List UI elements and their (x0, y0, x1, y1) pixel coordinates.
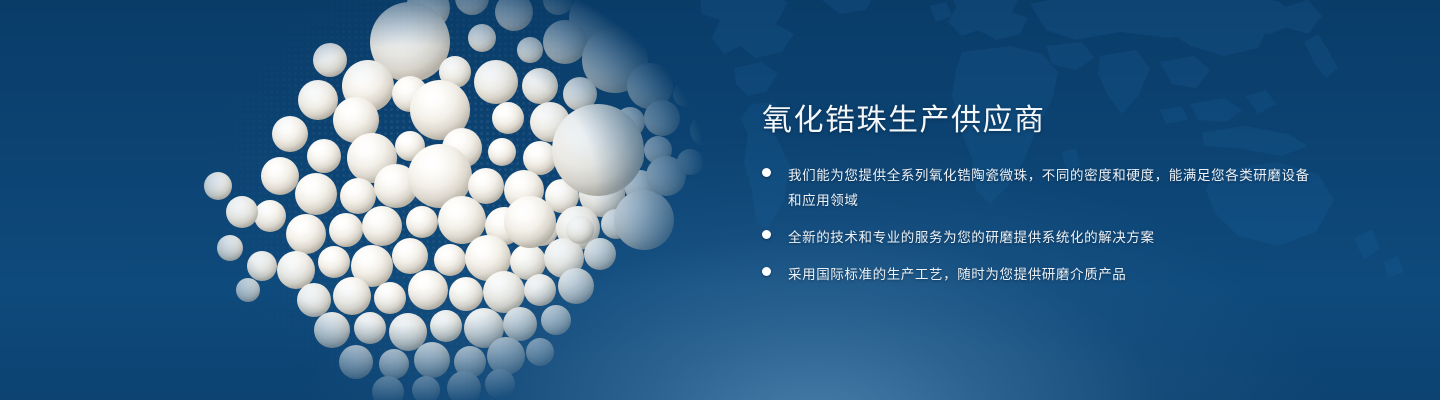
bullet-circle-icon (762, 230, 771, 239)
list-item-label: 采用国际标准的生产工艺，随时为您提供研磨介质产品 (788, 262, 1126, 287)
zirconia-beads-photo (110, 0, 730, 400)
list-item: 我们能为您提供全系列氧化锆陶瓷微珠，不同的密度和硬度，能满足您各类研磨设备和应用… (762, 163, 1322, 213)
hero-banner: 氧化锆珠生产供应商 我们能为您提供全系列氧化锆陶瓷微珠，不同的密度和硬度，能满足… (0, 0, 1440, 400)
page-title: 氧化锆珠生产供应商 (762, 104, 1322, 138)
bullet-circle-icon (762, 168, 771, 177)
bullet-circle-icon (762, 267, 771, 276)
list-item: 全新的技术和专业的服务为您的研磨提供系统化的解决方案 (762, 225, 1322, 250)
feature-list: 我们能为您提供全系列氧化锆陶瓷微珠，不同的密度和硬度，能满足您各类研磨设备和应用… (762, 163, 1322, 287)
list-item-label: 全新的技术和专业的服务为您的研磨提供系统化的解决方案 (788, 225, 1155, 250)
banner-copy: 氧化锆珠生产供应商 我们能为您提供全系列氧化锆陶瓷微珠，不同的密度和硬度，能满足… (762, 104, 1322, 287)
list-item-label: 我们能为您提供全系列氧化锆陶瓷微珠，不同的密度和硬度，能满足您各类研磨设备和应用… (788, 163, 1322, 213)
list-item: 采用国际标准的生产工艺，随时为您提供研磨介质产品 (762, 262, 1322, 287)
